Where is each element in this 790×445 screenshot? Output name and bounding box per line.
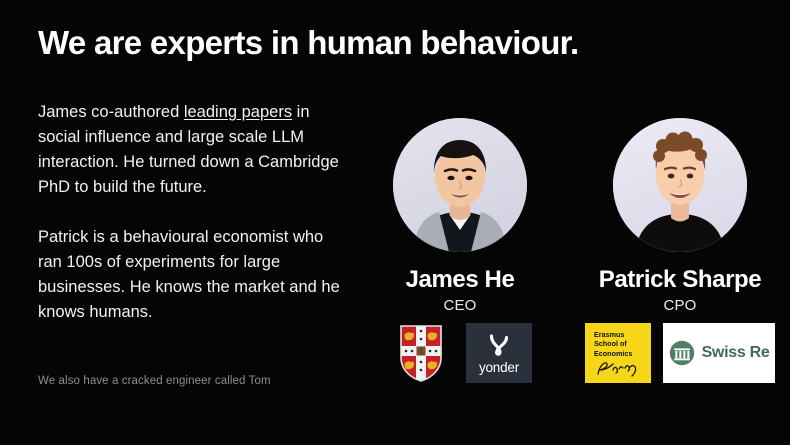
copy-column: James co-authored leading papers in soci… xyxy=(38,100,348,325)
person-name-patrick: Patrick Sharpe xyxy=(599,266,761,294)
yonder-logo: yonder xyxy=(466,323,532,383)
erasmus-signature-icon xyxy=(594,358,642,380)
cambridge-crest-icon xyxy=(399,324,443,382)
erasmus-line-2: School of xyxy=(594,339,651,348)
yonder-mark-icon xyxy=(486,332,512,358)
erasmus-line-1: Erasmus xyxy=(594,330,651,339)
logo-row-patrick: Erasmus School of Economics xyxy=(585,323,775,383)
person-card-james: James He CEO xyxy=(360,118,560,383)
person-role-james: CEO xyxy=(443,297,476,314)
cambridge-logo xyxy=(388,323,454,383)
logo-row-james: yonder xyxy=(388,323,532,383)
person-card-patrick: Patrick Sharpe CPO Erasmus School of Eco… xyxy=(580,118,780,383)
erasmus-wordmark: Erasmus School of Economics xyxy=(585,330,651,358)
swissre-logo: Swiss Re xyxy=(663,323,775,383)
person-name-james: James He xyxy=(406,266,515,294)
footnote-text: We also have a cracked engineer called T… xyxy=(38,375,271,387)
people-row: James He CEO xyxy=(360,118,780,383)
person-role-patrick: CPO xyxy=(663,297,696,314)
portrait-patrick-sharpe-image xyxy=(613,118,747,252)
avatar-james xyxy=(393,118,527,252)
page-title: We are experts in human behaviour. xyxy=(38,24,578,62)
yonder-wordmark: yonder xyxy=(479,360,519,375)
avatar-patrick xyxy=(613,118,747,252)
paragraph-james-text-before: James co-authored xyxy=(38,103,184,121)
slide-canvas: We are experts in human behaviour. James… xyxy=(0,0,790,445)
portrait-james-he-image xyxy=(393,118,527,252)
erasmus-logo: Erasmus School of Economics xyxy=(585,323,651,383)
swissre-mark-icon xyxy=(669,340,695,366)
leading-papers-link[interactable]: leading papers xyxy=(184,103,292,121)
swissre-wordmark: Swiss Re xyxy=(702,344,770,362)
paragraph-james: James co-authored leading papers in soci… xyxy=(38,100,348,200)
erasmus-line-3: Economics xyxy=(594,349,651,358)
paragraph-patrick: Patrick is a behavioural economist who r… xyxy=(38,225,348,325)
